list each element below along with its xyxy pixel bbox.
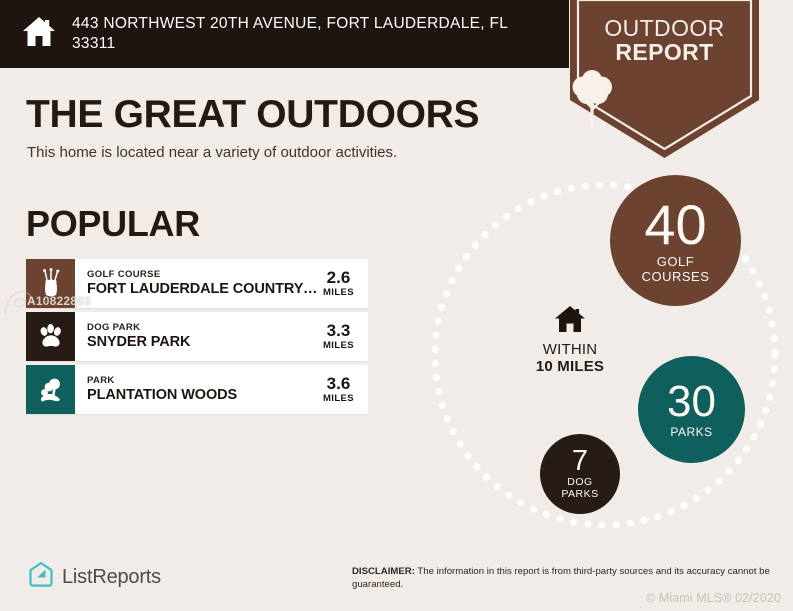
list-item-distance: 2.6 MILES [319, 269, 362, 298]
paw-print-icon [26, 312, 75, 361]
chart-center-label: WITHIN 10 MILES [515, 305, 625, 376]
list-item-category: GOLF COURSE [87, 269, 319, 281]
list-item[interactable]: PARK PLANTATION WOODS 3.6 MILES [26, 365, 368, 414]
list-item[interactable]: DOG PARK SNYDER PARK 3.3 MILES [26, 312, 368, 361]
list-item[interactable]: GOLF COURSE FORT LAUDERDALE COUNTRY CLUB… [26, 259, 368, 308]
list-item-name: FORT LAUDERDALE COUNTRY CLUB [87, 281, 319, 298]
outdoor-report-badge: OUTDOOR REPORT [566, 0, 763, 160]
property-address: 443 NORTHWEST 20TH AVENUE, FORT LAUDERDA… [72, 14, 542, 55]
bubble-label-line2: PARKS [561, 489, 598, 501]
distance-value: 2.6 [323, 269, 354, 287]
list-item-name: SNYDER PARK [87, 334, 319, 351]
bubble-value: 7 [572, 447, 588, 476]
tree-icon [566, 70, 763, 128]
center-label-line2: 10 MILES [515, 358, 625, 375]
center-label-line1: WITHIN [515, 341, 625, 358]
bubble-value: 40 [644, 197, 706, 253]
list-item-distance: 3.3 MILES [319, 322, 362, 351]
bubble-label: DOG PARKS [561, 477, 598, 500]
bubble-label: PARKS [670, 426, 712, 439]
mls-copyright: © Miami MLS® 02/2020 [646, 591, 781, 605]
listreports-house-icon [28, 561, 54, 593]
distance-unit: MILES [323, 393, 354, 404]
bubble-dog-parks: 7 DOG PARKS [540, 434, 620, 514]
bubble-label-line1: GOLF [642, 255, 710, 269]
disclaimer-text: The information in this report is from t… [352, 566, 770, 590]
disclaimer: DISCLAIMER: The information in this repo… [352, 565, 782, 591]
list-item-category: DOG PARK [87, 322, 319, 334]
bubble-parks: 30 PARKS [638, 356, 745, 463]
bubble-value: 30 [667, 380, 716, 424]
trees-icon [26, 365, 75, 414]
distance-value: 3.3 [323, 322, 354, 340]
list-item-name: PLANTATION WOODS [87, 387, 319, 404]
header-inner: 443 NORTHWEST 20TH AVENUE, FORT LAUDERDA… [0, 0, 569, 68]
header-bar: 443 NORTHWEST 20TH AVENUE, FORT LAUDERDA… [0, 0, 569, 68]
list-item-body: GOLF COURSE FORT LAUDERDALE COUNTRY CLUB… [75, 259, 368, 308]
list-item-category: PARK [87, 375, 319, 387]
list-item-text: PARK PLANTATION WOODS [87, 375, 319, 404]
amenities-bubble-chart: 40 GOLF COURSES 30 PARKS 7 DOG PARKS [430, 165, 793, 555]
distance-unit: MILES [323, 340, 354, 351]
listreports-logo[interactable]: ListReports [28, 561, 161, 593]
outdoor-report-page: 443 NORTHWEST 20TH AVENUE, FORT LAUDERDA… [0, 0, 793, 611]
popular-heading: POPULAR [26, 203, 200, 245]
distance-value: 3.6 [323, 375, 354, 393]
bubble-label: GOLF COURSES [642, 255, 710, 284]
page-subtitle: This home is located near a variety of o… [27, 144, 397, 161]
bubble-label-line2: COURSES [642, 270, 710, 284]
disclaimer-label: DISCLAIMER: [352, 566, 415, 577]
list-item-distance: 3.6 MILES [319, 375, 362, 404]
popular-list: GOLF COURSE FORT LAUDERDALE COUNTRY CLUB… [26, 259, 368, 418]
list-item-body: DOG PARK SNYDER PARK 3.3 MILES [75, 312, 368, 361]
bubble-label-line1: PARKS [670, 426, 712, 439]
golf-bag-icon [26, 259, 75, 308]
home-icon [515, 305, 625, 338]
page-title: THE GREAT OUTDOORS [26, 93, 479, 137]
home-icon [22, 16, 56, 52]
list-item-body: PARK PLANTATION WOODS 3.6 MILES [75, 365, 368, 414]
list-item-text: GOLF COURSE FORT LAUDERDALE COUNTRY CLUB [87, 269, 319, 298]
listreports-wordmark: ListReports [62, 566, 161, 589]
list-item-text: DOG PARK SNYDER PARK [87, 322, 319, 351]
distance-unit: MILES [323, 287, 354, 298]
footer: ListReports DISCLAIMER: The information … [0, 553, 793, 611]
bubble-golf-courses: 40 GOLF COURSES [610, 175, 741, 306]
